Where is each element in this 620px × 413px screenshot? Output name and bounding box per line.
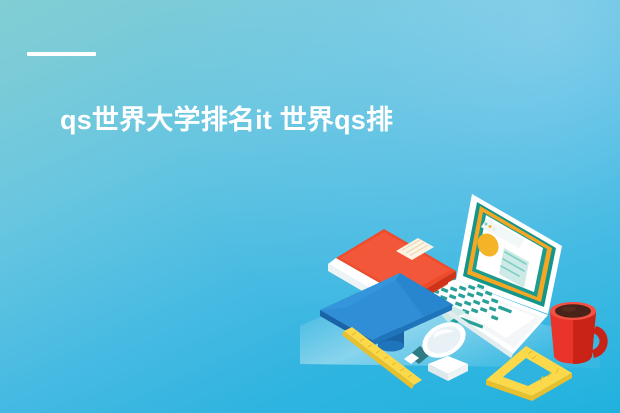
page-title: qs世界大学排名it 世界qs排	[60, 104, 393, 138]
banner: qs世界大学排名it 世界qs排	[0, 0, 620, 413]
education-desk-illustration	[300, 168, 620, 413]
accent-dash-decoration	[27, 52, 96, 56]
coffee-mug-icon	[550, 302, 608, 364]
